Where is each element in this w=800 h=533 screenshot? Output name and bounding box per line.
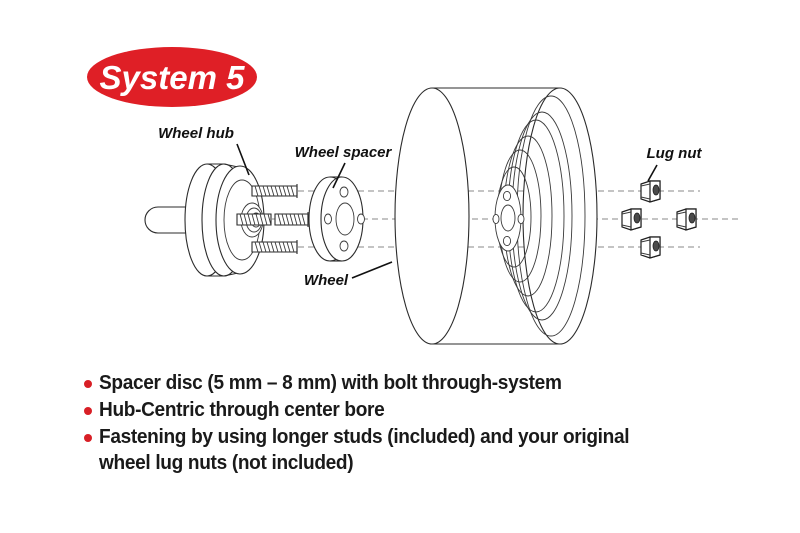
- lug-nut-upper: [641, 181, 660, 202]
- list-item: Hub-Centric through center bore: [84, 397, 784, 423]
- wheel: [395, 88, 597, 344]
- badge-label: System 5: [100, 59, 246, 96]
- list-item: Spacer disc (5 mm – 8 mm) with bolt thro…: [84, 370, 784, 396]
- callout-wheel: Wheel: [304, 272, 349, 289]
- list-item: Fastening by using longer studs (include…: [84, 424, 784, 476]
- bullet-dot-icon: [84, 380, 92, 388]
- bullet-dot-icon: [84, 407, 92, 415]
- lug-nut-middle-near: [677, 209, 696, 230]
- leader-lug-nut: [648, 165, 657, 181]
- hub-stud-upper: [252, 184, 297, 198]
- feature-bullet-list: Spacer disc (5 mm – 8 mm) with bolt thro…: [84, 370, 784, 477]
- bullet-label: Spacer disc (5 mm – 8 mm) with bolt thro…: [99, 370, 562, 396]
- bullet-label: Hub-Centric through center bore: [99, 397, 384, 423]
- leader-wheel: [352, 262, 392, 278]
- lug-nut-middle-far: [622, 209, 641, 230]
- bullet-dot-icon: [84, 434, 92, 442]
- callout-wheel-spacer: Wheel spacer: [295, 144, 393, 161]
- wheel-hub: [185, 164, 308, 276]
- diagram-page: System 5 Wheel hub Wheel spacer Wheel Lu…: [0, 0, 800, 533]
- system-badge: System 5: [87, 47, 257, 107]
- bullet-label: Fastening by using longer studs (include…: [99, 424, 629, 476]
- callout-lug-nut: Lug nut: [647, 145, 703, 162]
- hub-stud-lower: [252, 240, 297, 254]
- lug-nut-lower: [641, 237, 660, 258]
- wheel-spacer: [309, 177, 365, 261]
- callout-wheel-hub: Wheel hub: [158, 125, 234, 142]
